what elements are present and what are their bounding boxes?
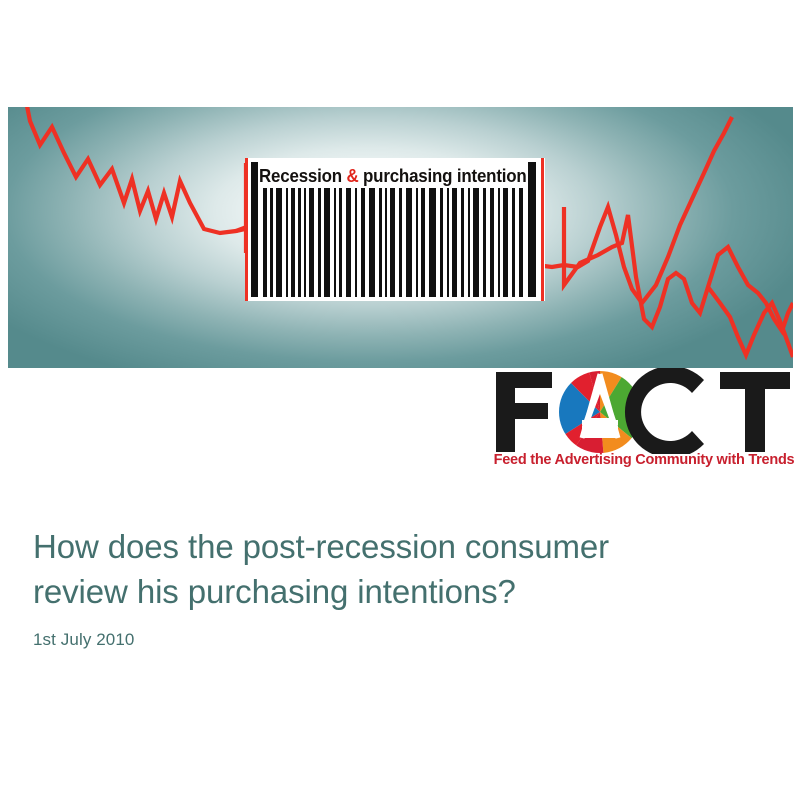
trend-line-left	[26, 107, 254, 233]
barcode-title-ampersand: &	[346, 166, 358, 186]
page-title-line-1: How does the post-recession consumer	[33, 524, 763, 569]
barcode-title-suffix: purchasing intention	[359, 166, 527, 186]
logo-letter-f-icon	[496, 372, 552, 452]
fact-logo: Feed the Advertising Community with Tren…	[492, 368, 794, 480]
barcode-graphic: Recession & purchasing intention	[245, 158, 545, 301]
barcode-guard-right-icon	[541, 158, 544, 301]
barcode-title-text: Recession & purchasing intention	[259, 164, 518, 188]
barcode-guard-left-icon	[245, 158, 248, 301]
logo-letter-t-icon	[720, 372, 790, 452]
logo-letter-c-icon	[625, 368, 704, 454]
header-banner-image: Recession & purchasing intention	[8, 107, 793, 368]
page-title: How does the post-recession consumer rev…	[33, 524, 763, 614]
barcode-title-prefix: Recession	[259, 166, 346, 186]
page-title-line-2: review his purchasing intentions?	[33, 569, 763, 614]
trend-line-tail	[708, 287, 793, 357]
fact-tagline: Feed the Advertising Community with Tren…	[493, 452, 795, 468]
page-date: 1st July 2010	[33, 630, 134, 650]
fact-wordmark-graphic	[492, 368, 794, 454]
